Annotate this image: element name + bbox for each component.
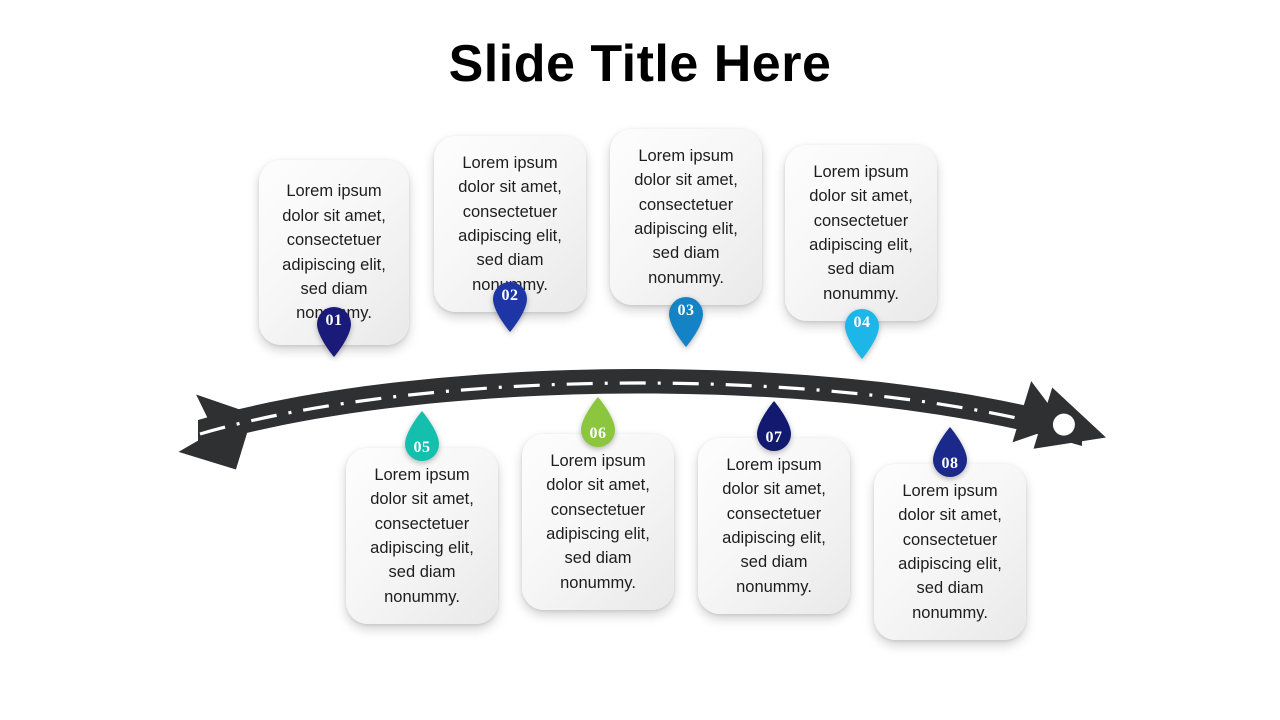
step-marker-03[interactable]: 03	[663, 291, 709, 347]
step-marker-label: 01	[311, 312, 357, 330]
step-card-03[interactable]: Lorem ipsum dolor sit amet, consectetuer…	[610, 129, 762, 305]
page-title: Slide Title Here	[0, 36, 1280, 93]
step-marker-label: 04	[839, 314, 885, 332]
step-marker-label: 08	[927, 455, 973, 473]
road-left-tail	[179, 395, 254, 470]
step-marker-02[interactable]: 02	[487, 276, 533, 332]
step-marker-06[interactable]: 06	[575, 397, 621, 453]
step-card-text: Lorem ipsum dolor sit amet, consectetuer…	[797, 160, 925, 306]
step-marker-label: 02	[487, 287, 533, 305]
step-marker-08[interactable]: 08	[927, 427, 973, 483]
slide-canvas: Slide Title Here Lorem ipsum dolor sit a…	[0, 0, 1280, 720]
step-card-04[interactable]: Lorem ipsum dolor sit amet, consectetuer…	[785, 145, 937, 321]
step-card-text: Lorem ipsum dolor sit amet, consectetuer…	[710, 453, 838, 599]
step-marker-01[interactable]: 01	[311, 301, 357, 357]
step-card-text: Lorem ipsum dolor sit amet, consectetuer…	[358, 463, 486, 609]
step-marker-label: 05	[399, 439, 445, 457]
step-card-07[interactable]: Lorem ipsum dolor sit amet, consectetuer…	[698, 438, 850, 614]
step-marker-05[interactable]: 05	[399, 411, 445, 467]
step-card-text: Lorem ipsum dolor sit amet, consectetuer…	[886, 479, 1014, 625]
step-card-06[interactable]: Lorem ipsum dolor sit amet, consectetuer…	[522, 434, 674, 610]
step-marker-label: 03	[663, 302, 709, 320]
step-card-05[interactable]: Lorem ipsum dolor sit amet, consectetuer…	[346, 448, 498, 624]
step-marker-label: 07	[751, 429, 797, 447]
road-arrow-graphic	[0, 0, 1280, 720]
step-marker-07[interactable]: 07	[751, 401, 797, 457]
step-marker-04[interactable]: 04	[839, 303, 885, 359]
road-right-arrowhead	[1012, 381, 1115, 468]
step-card-08[interactable]: Lorem ipsum dolor sit amet, consectetuer…	[874, 464, 1026, 640]
step-card-text: Lorem ipsum dolor sit amet, consectetuer…	[622, 144, 750, 290]
step-card-text: Lorem ipsum dolor sit amet, consectetuer…	[534, 449, 662, 595]
step-marker-label: 06	[575, 425, 621, 443]
